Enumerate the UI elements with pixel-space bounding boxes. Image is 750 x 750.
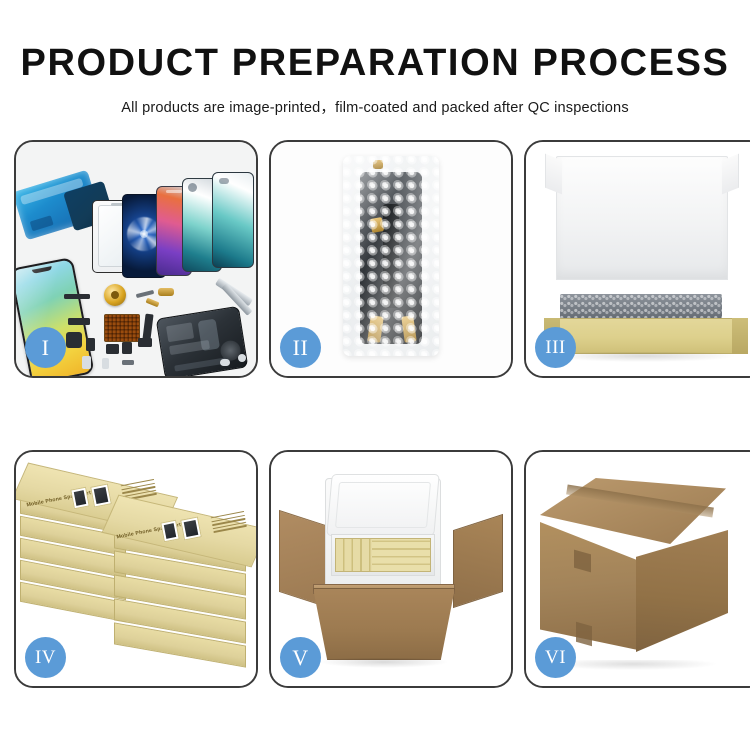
step-badge-2: II	[280, 327, 321, 368]
process-step-panel-6: VI	[524, 450, 750, 688]
drop-shadow	[552, 352, 734, 362]
plastic-sheen	[343, 156, 439, 356]
kraft-box-right-panel	[732, 318, 748, 354]
component-bar-3	[68, 318, 90, 325]
component-white-4	[238, 354, 246, 362]
component-white-3	[220, 359, 230, 366]
component-block-1	[66, 332, 82, 348]
process-step-panel-2: II	[269, 140, 513, 378]
step-badge-3: III	[535, 327, 576, 368]
lcd-swirl-core	[140, 230, 148, 238]
box-window-screen	[74, 490, 86, 506]
carton-flap-right	[453, 514, 503, 608]
component-block-3	[106, 344, 119, 354]
process-step-panel-1: I	[14, 140, 258, 378]
foam-cooler-lid-icon	[326, 474, 439, 536]
gold-speaker-module-icon	[104, 284, 126, 306]
component-block-2	[86, 338, 95, 351]
bubble-wrap-bag-icon	[343, 156, 439, 356]
process-step-panel-3: III	[524, 140, 750, 378]
drop-shadow	[319, 658, 449, 668]
tape-mark-lower	[576, 622, 592, 647]
header: PRODUCT PREPARATION PROCESS All products…	[0, 0, 750, 117]
white-box-lid-icon	[556, 156, 728, 280]
housing-module-1	[166, 322, 194, 342]
component-white-2	[102, 358, 109, 369]
copper-chip-grid-icon	[104, 314, 140, 342]
process-step-panel-5: V	[269, 450, 513, 688]
box-window-screen	[164, 523, 176, 539]
teal-phone-icon-2	[212, 172, 254, 268]
step-badge-1: I	[25, 327, 66, 368]
process-step-panel-4: Mobile Phone Spare Parts	[14, 450, 258, 688]
step-badge-4: IV	[25, 637, 66, 678]
box-window-screen	[184, 520, 199, 537]
process-step-grid: I II	[14, 140, 736, 688]
phone-back-housing-icon	[156, 306, 249, 376]
housing-module-3	[174, 357, 226, 371]
kraft-boxes-inside-icon	[335, 538, 431, 572]
page-title: PRODUCT PREPARATION PROCESS	[0, 44, 750, 82]
housing-battery	[198, 319, 220, 351]
carton-front-panel	[313, 588, 455, 660]
box-window-back-2	[90, 483, 112, 507]
page-subtitle: All products are image-printed，film-coat…	[0, 96, 750, 117]
component-block-4	[122, 342, 132, 354]
component-white-1	[82, 356, 91, 369]
component-gold-1	[158, 288, 174, 296]
component-bar-4	[122, 360, 134, 365]
step-badge-6: VI	[535, 637, 576, 678]
box-window-screen	[94, 487, 109, 504]
box-window-front-2	[180, 516, 202, 540]
product-preparation-infographic: PRODUCT PREPARATION PROCESS All products…	[0, 0, 750, 750]
step-badge-5: V	[280, 637, 321, 678]
component-bar-1	[64, 294, 90, 299]
